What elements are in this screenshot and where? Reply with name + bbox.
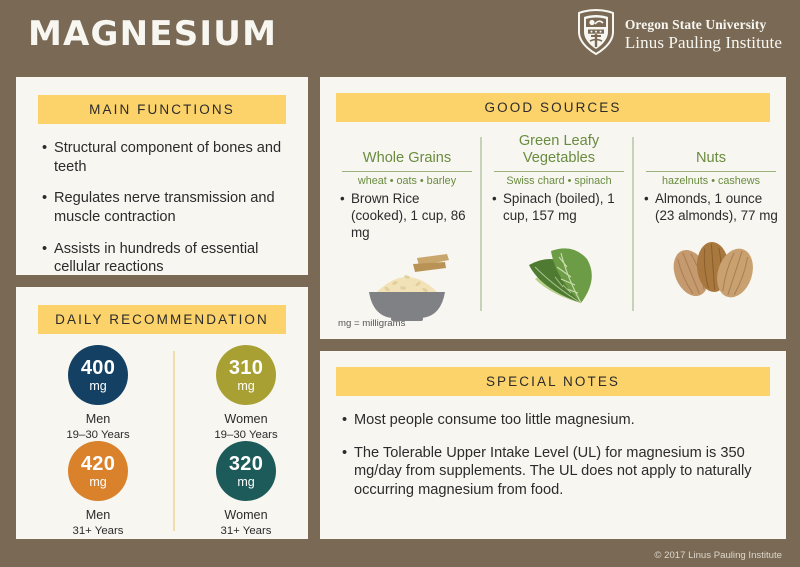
recommendation-entry: 400 mg Men 19–30 Years xyxy=(28,345,168,443)
dose-circle: 420 mg xyxy=(68,441,128,501)
dose-amount: 420 xyxy=(81,454,115,474)
daily-recommendation-band: DAILY RECOMMENDATION xyxy=(38,305,286,334)
special-notes-card: SPECIAL NOTES • Most people consume too … xyxy=(320,351,786,539)
special-note-text: Most people consume too little magnesium… xyxy=(354,411,762,430)
source-item-text: Spinach (boiled), 1 cup, 157 mg xyxy=(503,191,626,225)
list-item: • Structural component of bones and teet… xyxy=(42,139,290,176)
main-functions-band: MAIN FUNCTIONS xyxy=(38,95,286,124)
list-item: • Almonds, 1 ounce (23 almonds), 77 mg xyxy=(640,191,782,225)
osu-lpi-logo: Oregon State University Linus Pauling In… xyxy=(576,8,782,61)
main-function-text: Structural component of bones and teeth xyxy=(54,139,290,176)
dose-unit: mg xyxy=(89,380,106,393)
logo-line-institute: Linus Pauling Institute xyxy=(625,33,782,52)
recommendation-entry: 310 mg Women 19–30 Years xyxy=(176,345,316,443)
vertical-divider xyxy=(632,137,634,311)
dose-unit: mg xyxy=(237,380,254,393)
recommendation-entry: 320 mg Women 31+ Years xyxy=(176,441,316,539)
good-sources-band: GOOD SOURCES xyxy=(336,93,770,122)
source-column-green-leafy-vegetables: Green Leafy Vegetables Swiss chard • spi… xyxy=(488,133,630,309)
divider xyxy=(494,171,624,172)
bullet-dot-icon: • xyxy=(340,191,351,242)
main-functions-card: MAIN FUNCTIONS • Structural component of… xyxy=(16,77,308,275)
good-sources-title: GOOD SOURCES xyxy=(485,100,622,115)
dose-group: Women xyxy=(176,507,316,524)
bullet-dot-icon: • xyxy=(342,444,354,500)
bullet-dot-icon: • xyxy=(42,189,54,226)
list-item: • Brown Rice (cooked), 1 cup, 86 mg xyxy=(336,191,478,242)
list-item: • Regulates nerve transmission and muscl… xyxy=(42,189,290,226)
dose-age: 31+ Years xyxy=(176,524,316,539)
bullet-dot-icon: • xyxy=(644,191,655,225)
source-title: Whole Grains xyxy=(336,133,478,169)
source-title: Green Leafy Vegetables xyxy=(488,133,630,169)
copyright-text: © 2017 Linus Pauling Institute xyxy=(654,550,782,561)
bullet-dot-icon: • xyxy=(342,411,354,430)
special-notes-band: SPECIAL NOTES xyxy=(336,367,770,396)
source-subtitle: Swiss chard • spinach xyxy=(488,175,630,187)
dose-unit: mg xyxy=(237,476,254,489)
dose-unit: mg xyxy=(89,476,106,489)
main-function-text: Assists in hundreds of essential cellula… xyxy=(54,240,290,277)
bullet-dot-icon: • xyxy=(42,240,54,277)
dose-circle: 400 mg xyxy=(68,345,128,405)
divider xyxy=(342,171,472,172)
bullet-dot-icon: • xyxy=(42,139,54,176)
vertical-divider xyxy=(480,137,482,311)
daily-recommendation-title: DAILY RECOMMENDATION xyxy=(55,312,269,327)
daily-recommendation-card: DAILY RECOMMENDATION 400 mg Men 19–30 Ye… xyxy=(16,287,308,539)
dose-group: Men xyxy=(28,411,168,428)
good-sources-card: GOOD SOURCES Whole Grains wheat • oats •… xyxy=(320,77,786,339)
dose-age: 31+ Years xyxy=(28,524,168,539)
source-title: Nuts xyxy=(640,133,782,169)
osu-shield-crest-icon xyxy=(576,8,616,61)
dose-amount: 310 xyxy=(229,358,263,378)
dose-group: Women xyxy=(176,411,316,428)
divider xyxy=(646,171,776,172)
almonds-icon xyxy=(640,231,782,309)
dose-circle: 310 mg xyxy=(216,345,276,405)
dose-amount: 400 xyxy=(81,358,115,378)
list-item: • Most people consume too little magnesi… xyxy=(342,411,762,430)
dose-group: Men xyxy=(28,507,168,524)
dose-amount: 320 xyxy=(229,454,263,474)
source-column-nuts: Nuts hazelnuts • cashews • Almonds, 1 ou… xyxy=(640,133,782,309)
source-subtitle: hazelnuts • cashews xyxy=(640,175,782,187)
page-header: MAGNESIUM Oregon State University Linus … xyxy=(0,0,800,70)
good-sources-grid: Whole Grains wheat • oats • barley • Bro… xyxy=(330,133,776,315)
vertical-divider xyxy=(173,351,175,531)
source-item-text: Almonds, 1 ounce (23 almonds), 77 mg xyxy=(655,191,778,225)
recommendation-entry: 420 mg Men 31+ Years xyxy=(28,441,168,539)
list-item: • Spinach (boiled), 1 cup, 157 mg xyxy=(488,191,630,225)
page-title: MAGNESIUM xyxy=(28,14,277,54)
daily-recommendation-grid: 400 mg Men 19–30 Years 310 mg Women 19–3… xyxy=(16,345,308,531)
list-item: • Assists in hundreds of essential cellu… xyxy=(42,240,290,277)
special-note-text: The Tolerable Upper Intake Level (UL) fo… xyxy=(354,444,762,500)
source-item-text: Brown Rice (cooked), 1 cup, 86 mg xyxy=(351,191,474,242)
milligrams-footnote: mg = milligrams xyxy=(338,318,405,329)
special-notes-list: • Most people consume too little magnesi… xyxy=(342,411,762,514)
special-notes-title: SPECIAL NOTES xyxy=(486,374,620,389)
dose-circle: 320 mg xyxy=(216,441,276,501)
bullet-dot-icon: • xyxy=(492,191,503,225)
logo-line-university: Oregon State University xyxy=(625,17,782,32)
rice-bowl-icon xyxy=(336,248,478,326)
main-function-text: Regulates nerve transmission and muscle … xyxy=(54,189,290,226)
main-functions-title: MAIN FUNCTIONS xyxy=(89,102,235,117)
source-column-whole-grains: Whole Grains wheat • oats • barley • Bro… xyxy=(336,133,478,326)
source-subtitle: wheat • oats • barley xyxy=(336,175,478,187)
spinach-leaves-icon xyxy=(488,231,630,309)
list-item: • The Tolerable Upper Intake Level (UL) … xyxy=(342,444,762,500)
main-functions-list: • Structural component of bones and teet… xyxy=(42,139,290,290)
